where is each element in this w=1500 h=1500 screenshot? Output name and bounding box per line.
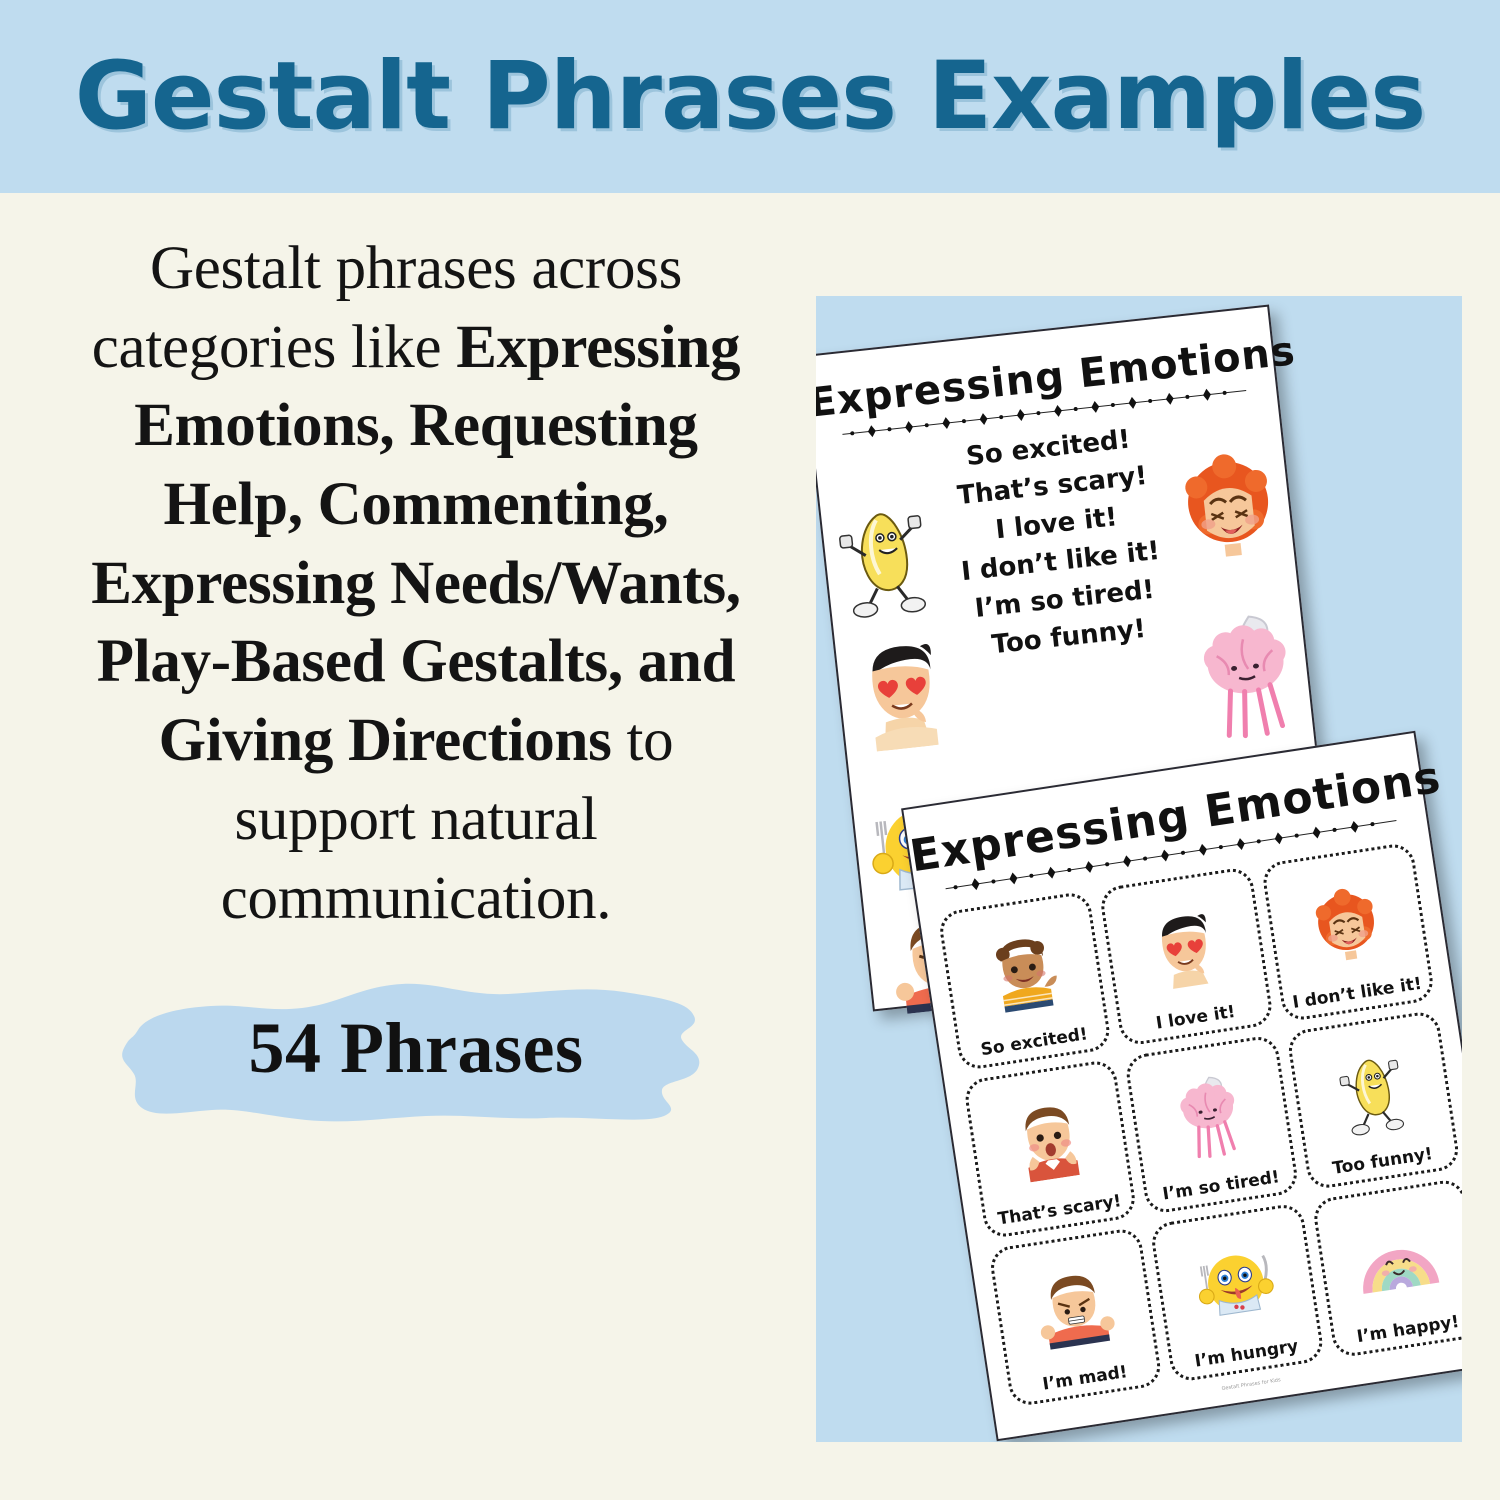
- card-illustration: [1292, 1019, 1452, 1164]
- emotion-card-grid: So excited! I love it!: [937, 841, 1462, 1407]
- laughing-redhead-girl-icon: [1304, 882, 1388, 966]
- scared-boy-icon: [1007, 1097, 1092, 1183]
- card-illustration: [994, 1236, 1154, 1381]
- heart-eyes-boy-icon: [1142, 905, 1229, 992]
- dancing-banana-icon: [834, 495, 932, 622]
- emotion-card[interactable]: That’s scary!: [963, 1058, 1139, 1239]
- emotion-card[interactable]: I’m hungry: [1149, 1202, 1325, 1383]
- page-title: Gestalt Phrases Examples: [75, 42, 1426, 151]
- front-cards-sheet[interactable]: Expressing Emotions: [901, 731, 1462, 1442]
- card-illustration: [1156, 1212, 1316, 1357]
- card-illustration: [1105, 876, 1265, 1021]
- description-paragraph: Gestalt phrases across categories like E…: [66, 230, 766, 938]
- card-illustration: [943, 900, 1103, 1045]
- phrase-item: I love it!: [994, 502, 1119, 545]
- sleepy-brain-icon: [1192, 606, 1305, 746]
- angry-boy-icon: [1031, 1266, 1117, 1351]
- card-illustration: [1317, 1187, 1462, 1332]
- card-illustration: [1266, 851, 1426, 996]
- emotion-card[interactable]: Too funny!: [1286, 1010, 1462, 1191]
- card-illustration: [969, 1068, 1129, 1213]
- dancing-banana-icon: [1335, 1045, 1409, 1139]
- hungry-emoji-icon: [1189, 1240, 1283, 1328]
- emotion-card[interactable]: I love it!: [1099, 866, 1275, 1047]
- emotion-card[interactable]: I’m mad!: [988, 1227, 1164, 1408]
- sleepy-brain-icon: [1169, 1068, 1253, 1164]
- emotion-card[interactable]: So excited!: [937, 890, 1113, 1071]
- emotion-card[interactable]: I’m so tired!: [1124, 1034, 1300, 1215]
- blurb-bold-categories: Expressing Emotions, Requesting Help, Co…: [91, 314, 741, 774]
- left-content-column: Gestalt phrases across categories like E…: [56, 230, 776, 1460]
- emotion-card[interactable]: I don’t like it!: [1260, 841, 1436, 1022]
- emotion-card[interactable]: I’m happy!: [1311, 1178, 1462, 1359]
- heart-eyes-boy-icon: [847, 633, 958, 753]
- phrase-count-badge: 54 Phrases: [116, 968, 716, 1128]
- laughing-redhead-girl-icon: [1175, 447, 1282, 563]
- excited-boy-icon: [980, 929, 1067, 1016]
- phrase-count-label: 54 Phrases: [249, 1007, 584, 1090]
- card-illustration: [1130, 1044, 1290, 1189]
- smiling-rainbow-icon: [1350, 1223, 1444, 1297]
- header-banner: Gestalt Phrases Examples: [0, 0, 1500, 193]
- product-preview-panel: Expressing Emotions: [816, 296, 1462, 1442]
- phrase-item: Too funny!: [990, 614, 1147, 661]
